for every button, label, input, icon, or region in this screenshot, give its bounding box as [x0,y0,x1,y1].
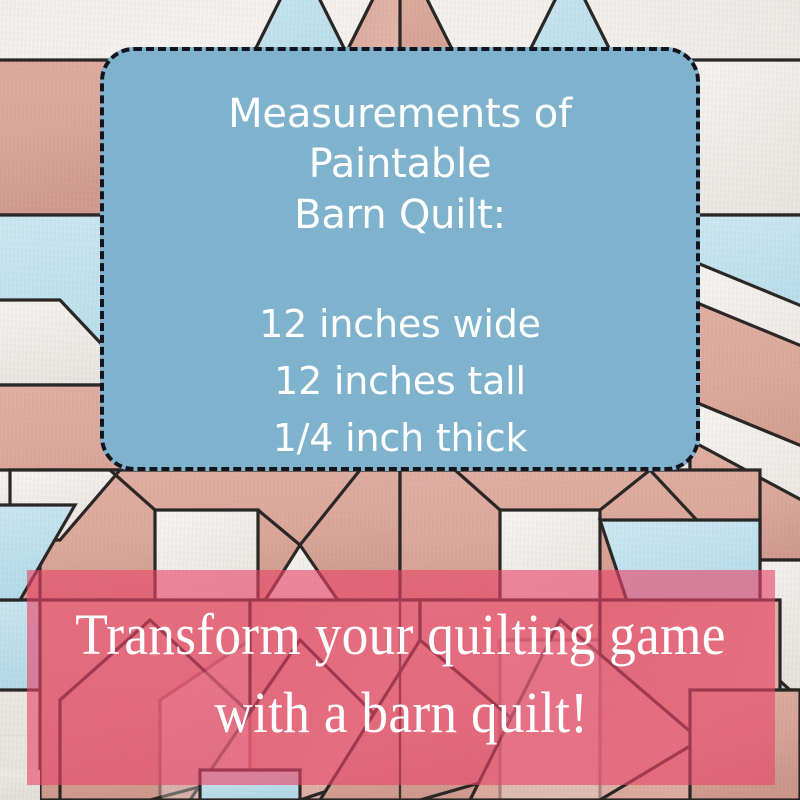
infographic-canvas: Measurements of Paintable Barn Quilt: 12… [0,0,800,800]
promo-line-1: Transform your quilting game [76,596,726,673]
measurements-spec-list: 12 inches wide 12 inches tall 1/4 inch t… [259,296,541,467]
promo-line-2: with a barn quilt! [214,674,588,751]
measurements-card: Measurements of Paintable Barn Quilt: 12… [100,47,700,471]
measurements-heading-line-2: Barn Quilt: [294,192,506,238]
measurements-card-heading: Measurements of Paintable Barn Quilt: [140,89,660,240]
measurements-heading-line-1: Measurements of Paintable [228,91,572,187]
spec-thickness: 1/4 inch thick [273,410,528,467]
spec-width: 12 inches wide [259,296,541,353]
promo-banner: Transform your quilting game with a barn… [27,570,775,785]
spec-height: 12 inches tall [274,353,526,410]
